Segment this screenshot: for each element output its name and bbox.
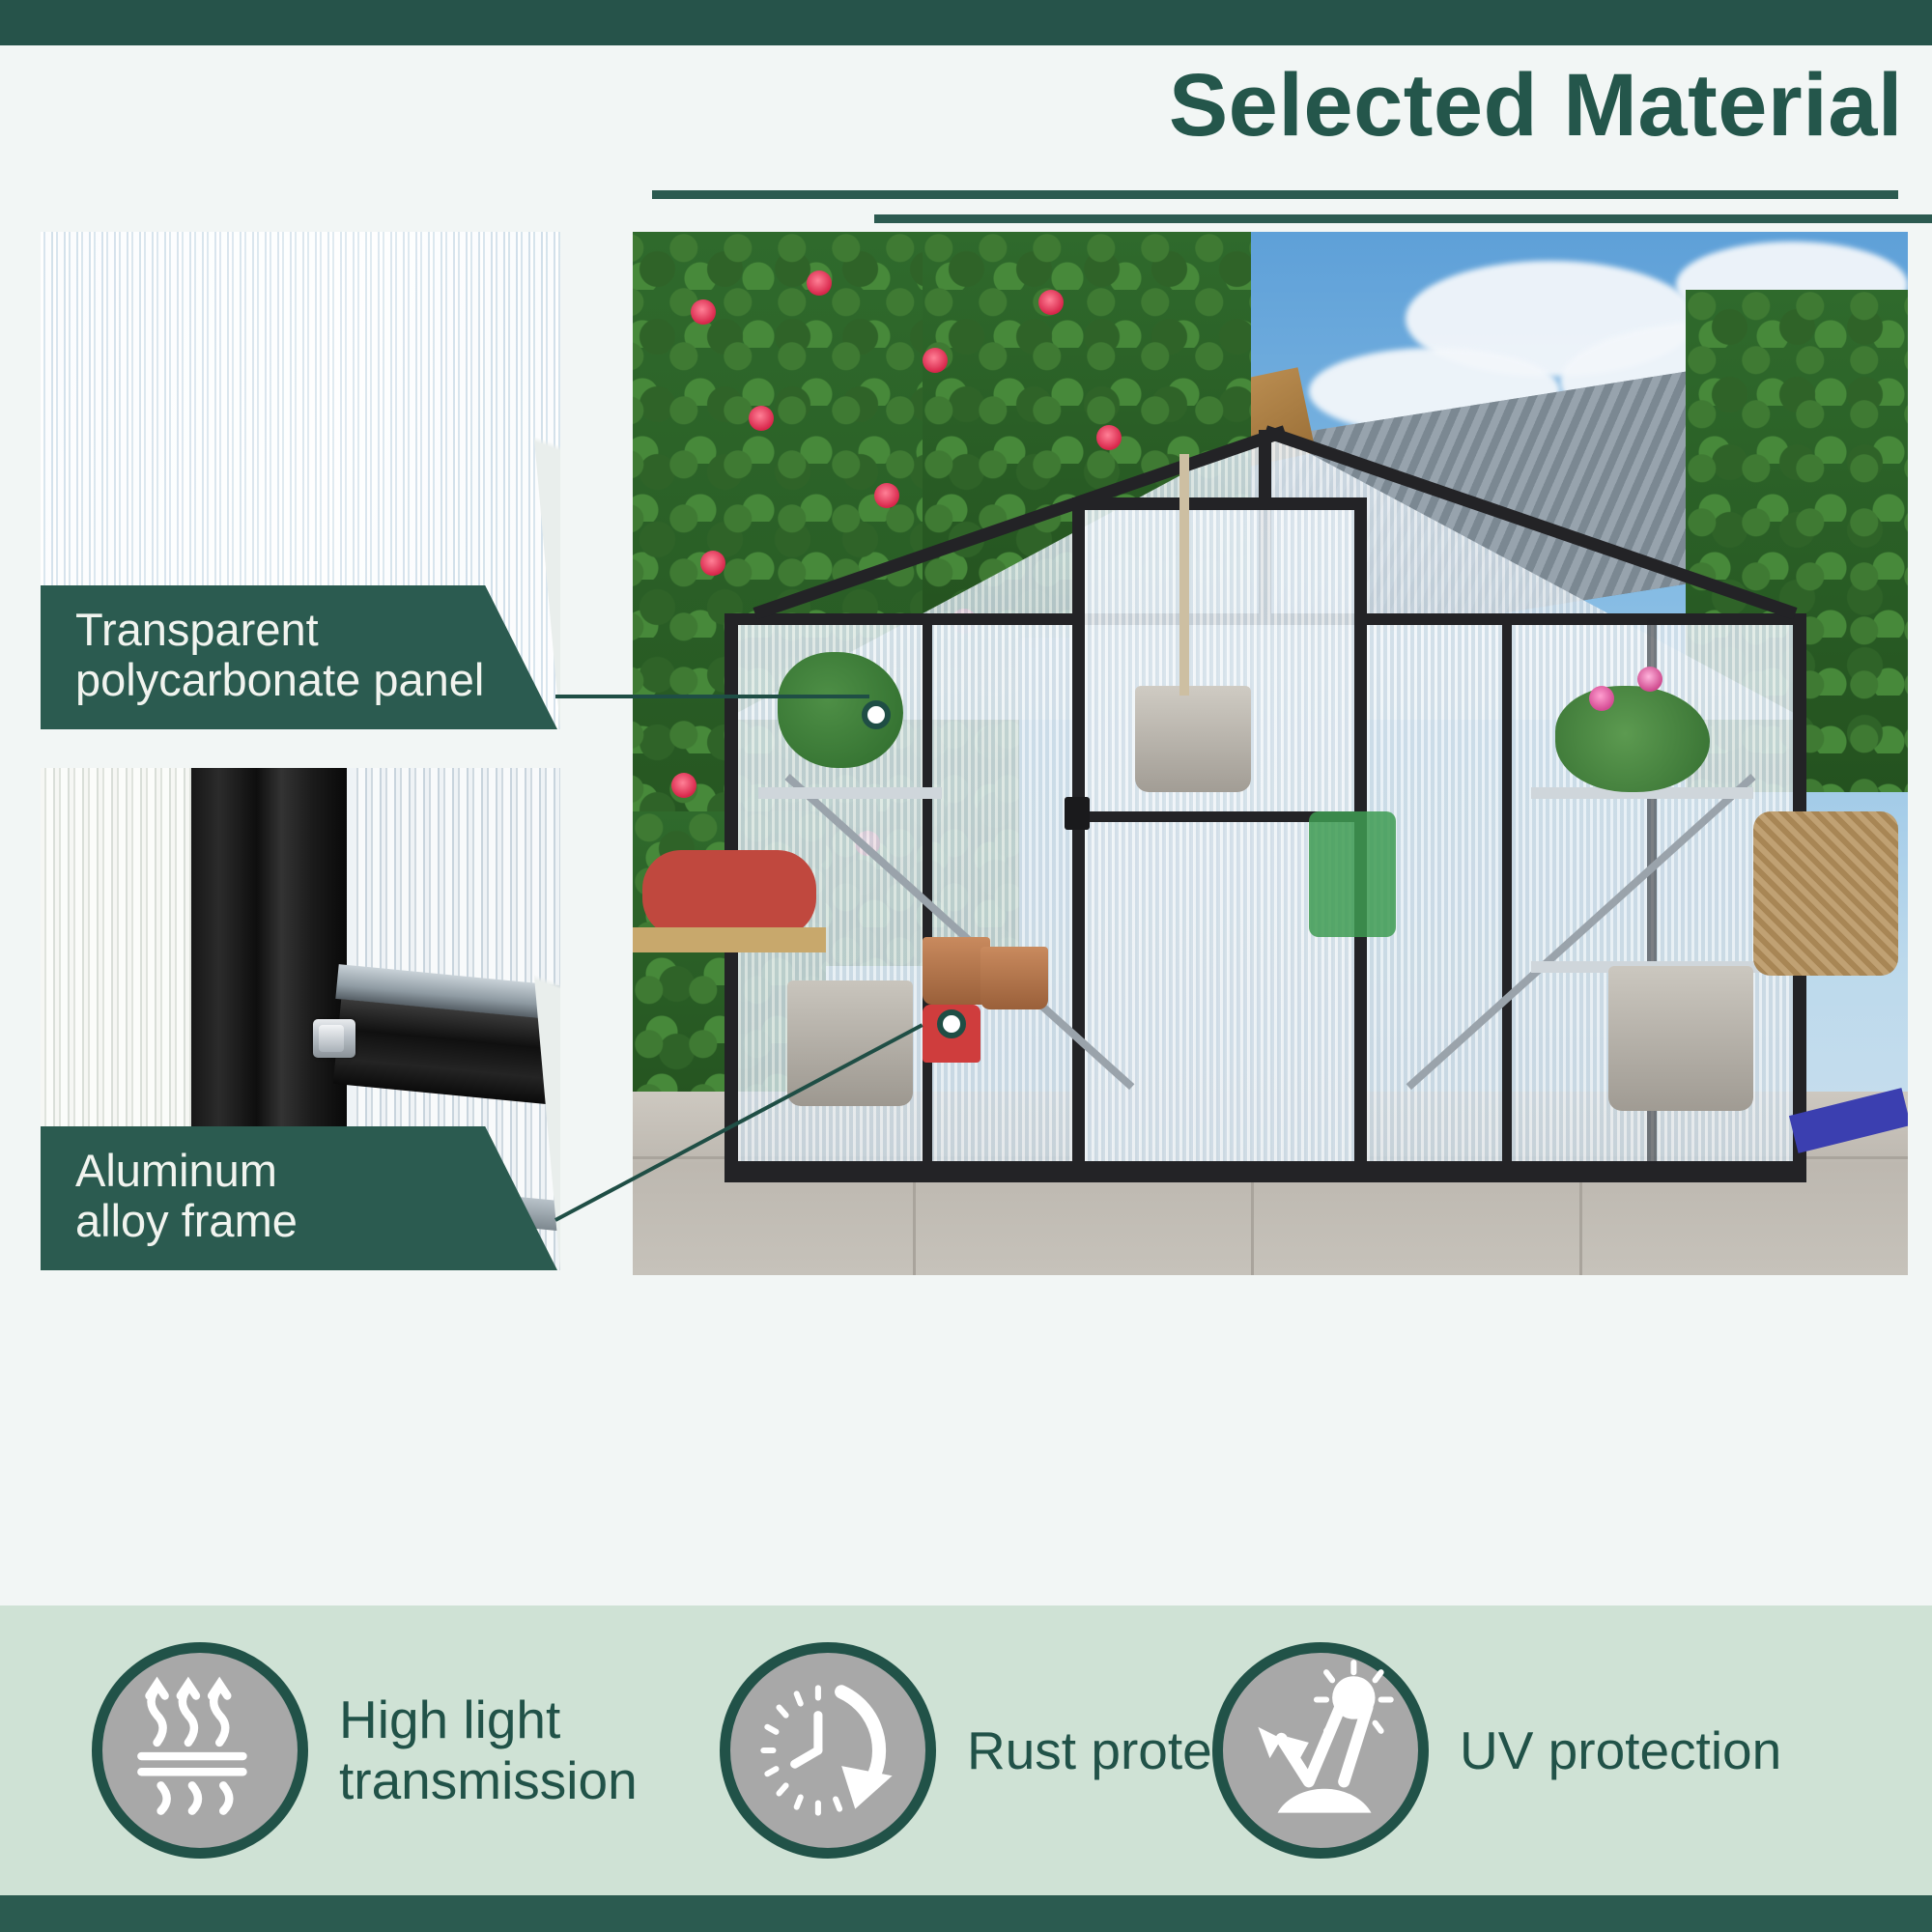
feature-uv-protection: UV protection: [1212, 1642, 1781, 1859]
interior-flower: [1637, 667, 1662, 692]
flower: [874, 483, 899, 508]
flower: [700, 551, 725, 576]
title-underline-secondary: [874, 214, 1932, 223]
bottom-accent-bar: [0, 1895, 1932, 1932]
light-transmission-icon: [92, 1642, 308, 1859]
flower: [691, 299, 716, 325]
detail-card-polycarbonate: Transparent polycarbonate panel: [41, 232, 560, 729]
caption-line-2: alloy frame: [75, 1196, 557, 1247]
outdoor-cushion: [642, 850, 816, 937]
detail-card-aluminum: Aluminum alloy frame: [41, 768, 560, 1270]
feature-label: UV protection: [1460, 1720, 1781, 1781]
caption-banner-polycarbonate: Transparent polycarbonate panel: [41, 585, 557, 729]
interior-pot: [1608, 966, 1753, 1111]
wall-mullion: [923, 618, 932, 1164]
flower: [923, 348, 948, 373]
caption-line-1: Transparent: [75, 605, 557, 656]
marker-dot-polycarbonate[interactable]: [862, 700, 891, 729]
flower: [749, 406, 774, 431]
frame-bolt: [313, 1019, 355, 1058]
feature-label-line-1: High light: [339, 1690, 638, 1750]
header: Selected Material: [0, 45, 1932, 239]
top-accent-bar: [0, 0, 1932, 45]
interior-flower: [1589, 686, 1614, 711]
feature-high-light-transmission: High light transmission: [92, 1642, 638, 1859]
page-title: Selected Material: [1169, 61, 1903, 150]
clock-arrow-icon: [720, 1642, 936, 1859]
title-underline-primary: [652, 190, 1898, 199]
feature-label: High light transmission: [339, 1690, 638, 1810]
flower: [807, 270, 832, 296]
caption-line-2: polycarbonate panel: [75, 655, 557, 706]
door-handle: [1065, 797, 1090, 830]
uv-sun-shield-icon: [1212, 1642, 1429, 1859]
caption-line-1: Aluminum: [75, 1146, 557, 1197]
flower: [1096, 425, 1122, 450]
terracotta-pot: [980, 947, 1048, 1009]
greenhouse-product-photo: [633, 232, 1908, 1275]
macrame-hanger: [1179, 454, 1189, 696]
marker-dot-aluminum[interactable]: [937, 1009, 966, 1038]
connector-line-polycarbonate: [555, 695, 869, 698]
green-watering-can: [1309, 811, 1396, 937]
feature-label-line-1: UV protection: [1460, 1720, 1781, 1781]
shelf: [758, 787, 942, 799]
flower: [671, 773, 696, 798]
flower: [1038, 290, 1064, 315]
feature-label-line-2: transmission: [339, 1750, 638, 1811]
hanging-pot: [1135, 686, 1251, 792]
interior-plant: [1555, 686, 1710, 792]
wicker-chair: [1753, 811, 1898, 976]
wall-mullion: [1502, 618, 1512, 1164]
caption-banner-aluminum: Aluminum alloy frame: [41, 1126, 557, 1270]
bamboo-bench: [633, 927, 826, 952]
